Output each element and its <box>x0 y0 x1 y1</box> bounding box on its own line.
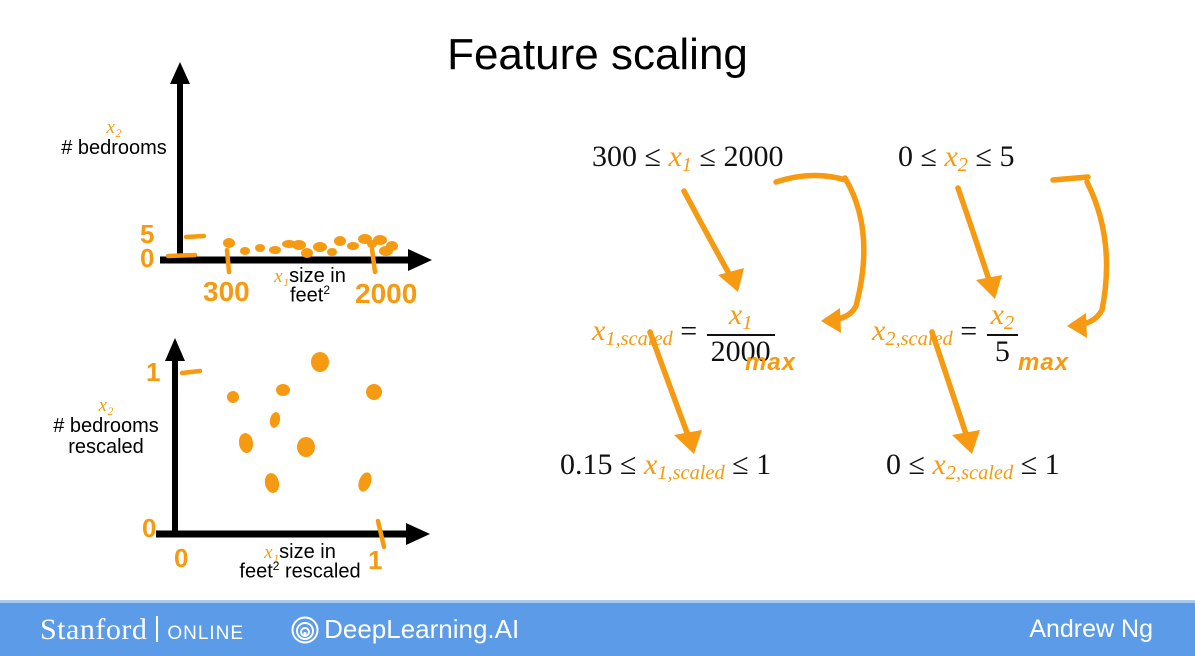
result-x2-rel1: ≤ <box>909 448 925 481</box>
plot-unscaled-y-text: # bedrooms <box>52 138 176 159</box>
result-x1-rel1: ≤ <box>620 448 636 481</box>
result-x2: 0 ≤ x2,scaled ≤ 1 <box>886 448 1060 485</box>
y-axis-arrowhead <box>165 338 185 361</box>
stanford-online-logo: Stanford ONLINE <box>40 613 244 647</box>
plot-rescaled-xtick-0: 0 <box>174 543 188 574</box>
plot-unscaled-ytick-0: 0 <box>140 243 154 274</box>
plot-rescaled-x-label: x₁size in feet2 rescaled <box>208 542 392 582</box>
range-x2-var: x2 <box>944 140 968 173</box>
range-x1: 300 ≤ x1 ≤ 2000 <box>592 140 783 177</box>
plot-unscaled-y-var: x₂ <box>52 118 176 138</box>
range-x2: 0 ≤ x2 ≤ 5 <box>898 140 1014 177</box>
scatter-points <box>226 352 382 494</box>
plot-unscaled-x-line1: x₁size in <box>246 266 374 286</box>
result-x1-rel2: ≤ <box>732 448 748 481</box>
author-name: Andrew Ng <box>1029 615 1153 644</box>
plot-unscaled-xtick-300: 300 <box>203 276 250 308</box>
formula-x1-eq: = <box>680 314 697 347</box>
x-axis-arrowhead <box>408 249 432 271</box>
range-x1-rel1: ≤ <box>645 140 661 173</box>
deeplearning-ai-logo: DeepLearning.AI <box>290 614 519 645</box>
plot-unscaled-x-var: x₁ <box>274 266 289 287</box>
formula-x2-lhs: x2,scaled <box>872 314 953 347</box>
arrow-max5-to-denominator <box>1073 182 1107 325</box>
y-tick-1 <box>182 371 200 373</box>
formula-x2-eq: = <box>960 314 977 347</box>
range-x2-lower: 0 <box>898 140 913 173</box>
online-wordmark: ONLINE <box>167 623 244 645</box>
formula-x1-lhs: x1,scaled <box>592 314 673 347</box>
arrow-x1-to-numerator <box>684 191 736 286</box>
range-x1-var: x1 <box>668 140 692 173</box>
y-axis-arrowhead <box>170 62 190 84</box>
result-x1-lower: 0.15 <box>560 448 613 481</box>
footer-bar: Stanford ONLINE DeepLearning.AI Andrew N… <box>0 600 1195 656</box>
formula-x1-numerator: x1 <box>707 300 775 334</box>
result-x2-lower: 0 <box>886 448 901 481</box>
plot-rescaled-y-var: x₂ <box>36 396 176 416</box>
plot-unscaled-x-text2: feet2 <box>246 284 374 306</box>
range-x1-rel2: ≤ <box>700 140 716 173</box>
result-x2-var: x2,scaled <box>932 448 1013 481</box>
arrow-max-to-denominator <box>827 178 864 320</box>
slide: Feature scaling <box>0 0 1195 656</box>
x-tick-300 <box>227 250 229 272</box>
plot-rescaled-ytick-0: 0 <box>142 513 156 544</box>
plot-rescaled-y-text1: # bedrooms <box>36 416 176 437</box>
range-x2-upper: 5 <box>999 140 1014 173</box>
plot-rescaled-y-text2: rescaled <box>36 437 176 458</box>
plot-rescaled-x-text2: feet2 rescaled <box>208 560 392 582</box>
plot-rescaled-x-line1: x₁size in <box>208 542 392 562</box>
formula-x2-denominator: 5 <box>987 334 1019 368</box>
deeplearning-wordmark: DeepLearning.AI <box>324 614 519 645</box>
result-x1: 0.15 ≤ x1,scaled ≤ 1 <box>560 448 771 485</box>
plot-unscaled-x-label: x₁size in feet2 <box>246 266 374 306</box>
arrow-x2-to-numerator <box>958 188 993 292</box>
plot-rescaled-y-label: x₂ # bedrooms rescaled <box>36 396 176 458</box>
formula-x2-numerator: x2 <box>987 300 1019 334</box>
formula-x2-max-note: max <box>1018 349 1069 377</box>
formula-x1-max-note: max <box>745 349 796 377</box>
underline-2000 <box>776 175 846 182</box>
range-x2-rel2: ≤ <box>976 140 992 173</box>
result-x2-rel2: ≤ <box>1021 448 1037 481</box>
range-x1-upper: 2000 <box>723 140 783 173</box>
result-x1-upper: 1 <box>756 448 771 481</box>
y-tick-5 <box>186 236 204 237</box>
underline-5 <box>1053 177 1088 180</box>
result-x1-var: x1,scaled <box>644 448 725 481</box>
spiral-icon <box>290 615 320 645</box>
formula-x2-scaled: x2,scaled = x2 5 <box>872 300 1020 367</box>
stanford-wordmark: Stanford <box>40 613 147 647</box>
y-tick-0 <box>168 255 195 256</box>
x-axis-arrowhead <box>406 523 430 545</box>
result-x2-upper: 1 <box>1045 448 1060 481</box>
logo-divider <box>156 616 158 642</box>
plot-rescaled-ytick-1: 1 <box>146 357 160 388</box>
plot-unscaled-y-label: x₂ # bedrooms <box>52 118 176 159</box>
range-x1-lower: 300 <box>592 140 637 173</box>
formula-x2-fraction: x2 5 <box>987 300 1019 367</box>
range-x2-rel1: ≤ <box>921 140 937 173</box>
